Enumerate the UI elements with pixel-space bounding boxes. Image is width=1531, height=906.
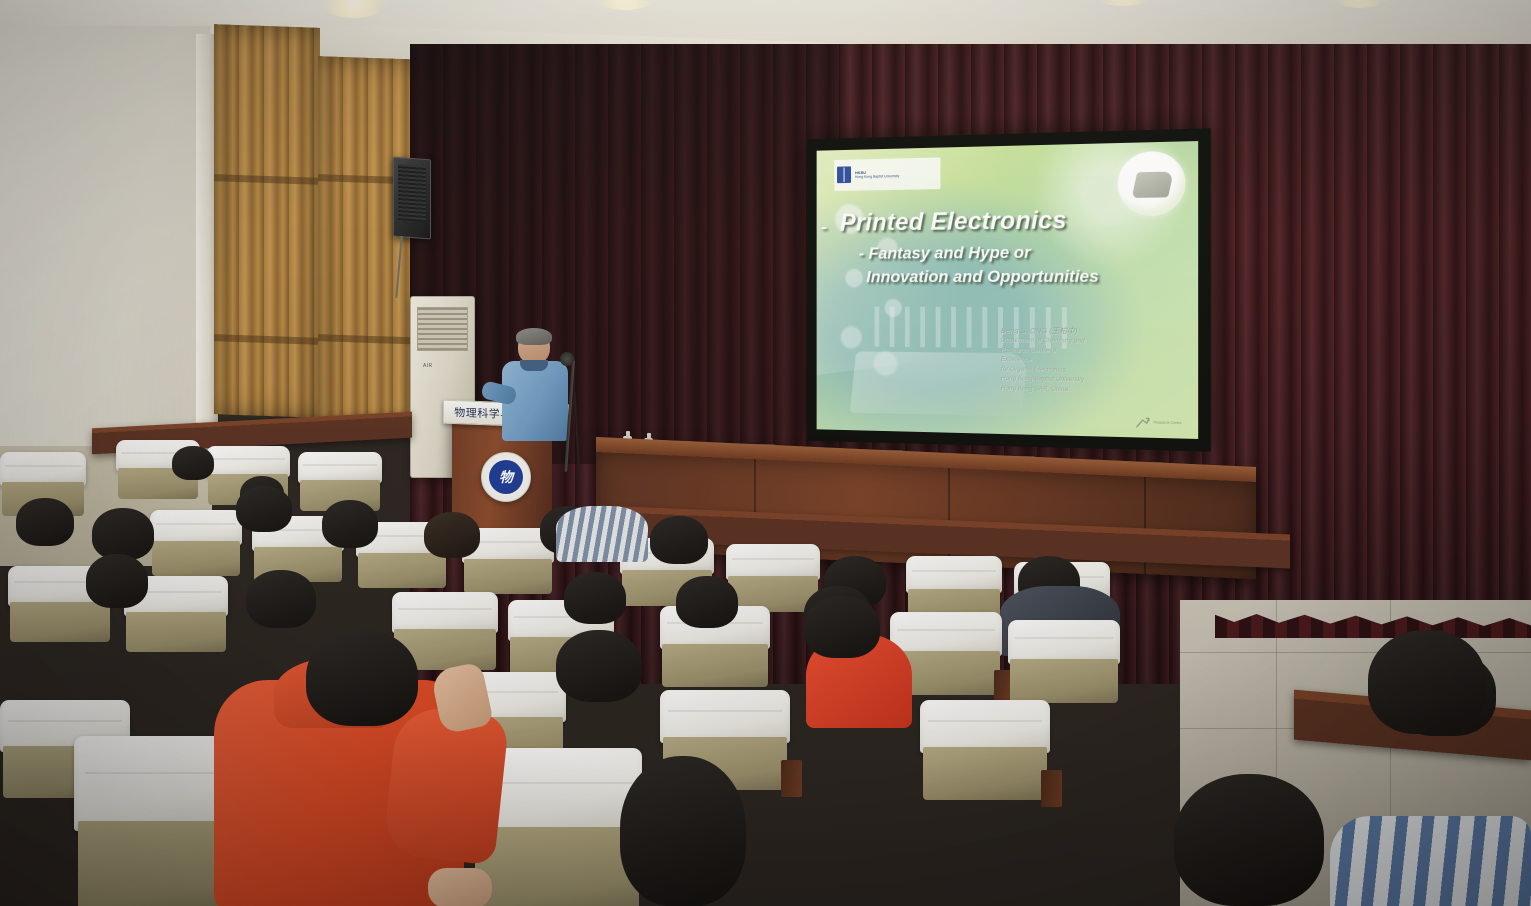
audience-head: [92, 508, 154, 560]
ac-unit-label: AIR: [423, 363, 433, 369]
audience-head-foreground: [620, 756, 746, 906]
audience-head-foreground: [1174, 774, 1324, 906]
audience-head: [650, 516, 708, 564]
audience-head: [16, 498, 74, 546]
wall-speaker-icon: [393, 157, 431, 240]
slide-bottom-logo-text: Research Centre: [1153, 420, 1181, 425]
slide-title-line-2: - Fantasy and Hype or: [835, 240, 1186, 264]
audience-body-striped: [1330, 816, 1531, 906]
slide-affiliation-line: Hong Kong SAR, China: [1001, 384, 1182, 397]
projection-screen: HKBU Hong Kong Baptist University - Prin…: [807, 128, 1210, 451]
book-logo-icon: HKBU Hong Kong Baptist University: [835, 158, 941, 191]
microphone-head: [560, 352, 574, 366]
audience-head: [322, 500, 378, 548]
wood-louver-curtain: [214, 24, 320, 418]
emblem-character: 物: [489, 460, 523, 494]
presenter: [498, 330, 572, 440]
audience-head: [246, 570, 316, 628]
audience-member-orange-hoodie: [214, 636, 520, 906]
university-emblem: 物: [481, 452, 531, 502]
slide-lead-dash: -: [820, 215, 827, 240]
audience-head-foreground: [1368, 630, 1486, 734]
audience-head: [172, 446, 214, 480]
slide-surface: HKBU Hong Kong Baptist University - Prin…: [817, 141, 1199, 439]
slide-title-block: Printed Electronics - Fantasy and Hype o…: [835, 204, 1186, 288]
audience-head: [424, 512, 480, 558]
slide-title-line-1: Printed Electronics: [835, 204, 1186, 239]
slide-logo-subtitle: Hong Kong Baptist University: [855, 174, 899, 179]
audience-head: [676, 576, 738, 628]
slide-title-line-3: Innovation and Opportunities: [835, 265, 1186, 287]
audience-head: [86, 554, 148, 608]
audience-head: [556, 630, 642, 702]
slide-author-block: Beng S. ONG (王柏中) Department of Chemistr…: [1001, 325, 1182, 397]
audience-head: [804, 596, 880, 658]
swoosh-logo-icon: Research Centre: [1136, 416, 1182, 429]
lecture-hall-photo: AIR HKBU Hong Kong Baptist University - …: [0, 0, 1531, 906]
audience-head: [236, 486, 292, 532]
audience-head: [564, 572, 626, 624]
audience-body: [556, 506, 648, 562]
